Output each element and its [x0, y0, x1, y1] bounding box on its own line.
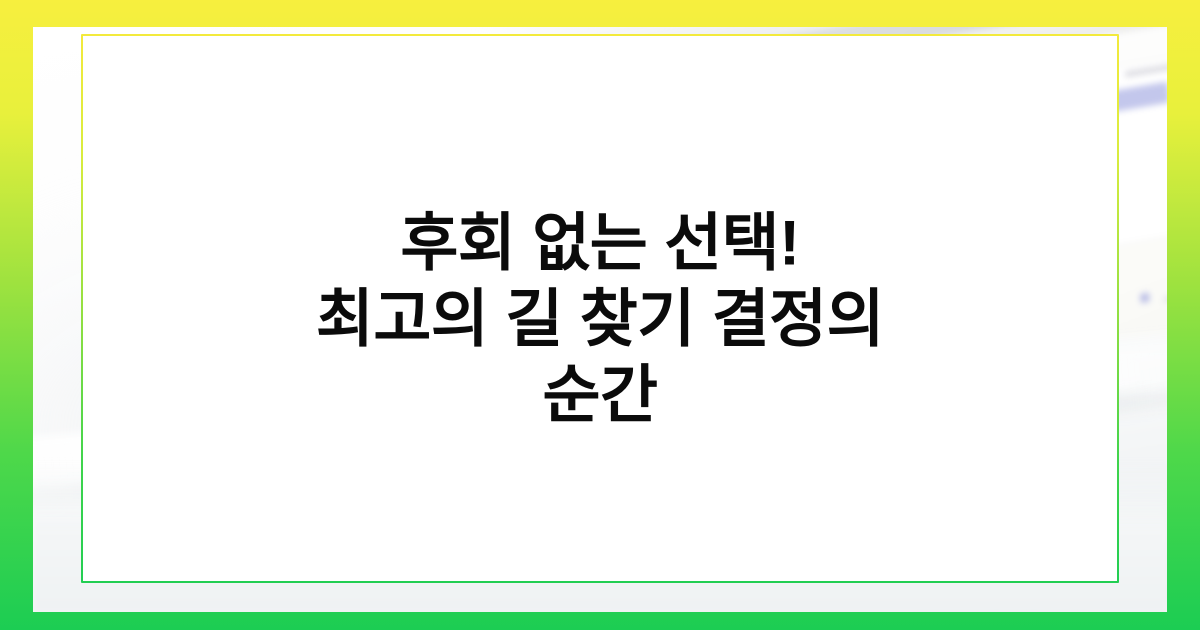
headline-block: 후회 없는 선택! 최고의 길 찾기 결정의 순간 — [33, 205, 1167, 434]
column-header — [861, 107, 911, 121]
column-header — [1059, 74, 1109, 88]
headline-line-1: 후회 없는 선택! — [93, 205, 1107, 281]
inner-panel: 후회 없는 선택! 최고의 길 찾기 결정의 순간 — [33, 27, 1167, 612]
column-header — [993, 85, 1043, 99]
cohort-row-label — [680, 153, 758, 172]
cohort-row-label — [682, 178, 760, 197]
column-header — [927, 96, 977, 110]
headline-line-3: 순간 — [93, 358, 1107, 434]
column-header — [1125, 63, 1167, 77]
cohort-cell — [1110, 81, 1167, 112]
column-header — [795, 118, 845, 132]
thumbnail-card: 후회 없는 선택! 최고의 길 찾기 결정의 순간 — [0, 0, 1200, 630]
headline-line-2: 최고의 길 찾기 결정의 — [93, 281, 1107, 357]
desk-surface — [33, 460, 1167, 612]
